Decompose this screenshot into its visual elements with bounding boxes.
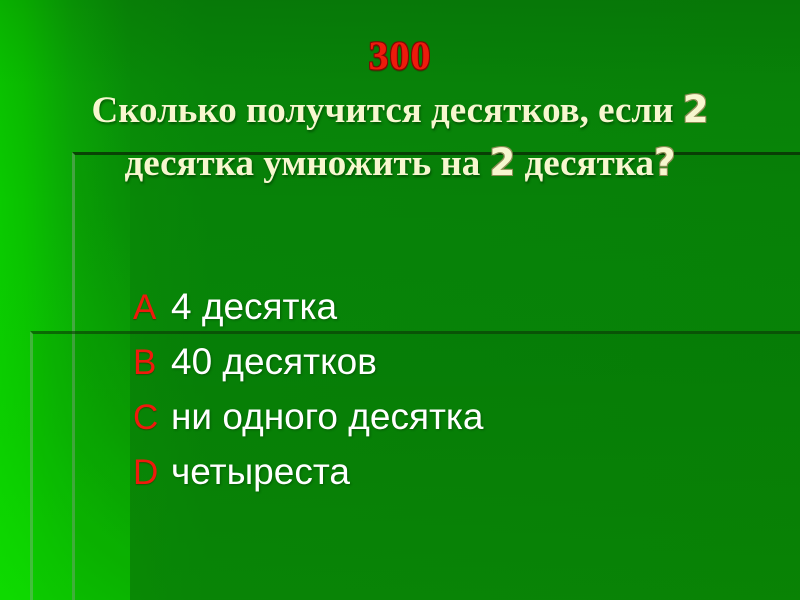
score-header: 300 xyxy=(0,34,800,78)
answer-options-list: A 4 десятка B 40 десятков C ни одного де… xyxy=(133,286,773,506)
question-text: Сколько получится десятков, если 2 десят… xyxy=(40,84,760,190)
question-number-first: 2 xyxy=(683,88,709,131)
answer-option-c[interactable]: C ни одного десятка xyxy=(133,396,773,451)
answer-option-d[interactable]: D четыреста xyxy=(133,451,773,506)
answer-text-d: четыреста xyxy=(171,451,350,493)
answer-letter-a: A xyxy=(133,288,171,328)
question-number-second: 2 xyxy=(490,141,516,184)
answer-letter-d: D xyxy=(133,453,171,493)
answer-text-c: ни одного десятка xyxy=(171,396,484,438)
question-line-1-post: , xyxy=(580,90,589,131)
question-mark: ? xyxy=(654,141,675,184)
answer-option-b[interactable]: B 40 десятков xyxy=(133,341,773,396)
question-line-2-mid: десятка умножить на xyxy=(125,143,490,184)
question-line-1-pre: Сколько получится десятков xyxy=(91,90,579,131)
answer-text-b: 40 десятков xyxy=(171,341,377,383)
question-line-3-text: десятка xyxy=(525,143,654,184)
slide-content: 300 Сколько получится десятков, если 2 д… xyxy=(0,0,800,600)
question-line-2-pre: если xyxy=(598,90,683,131)
quiz-slide: 300 Сколько получится десятков, если 2 д… xyxy=(0,0,800,600)
answer-option-a[interactable]: A 4 десятка xyxy=(133,286,773,341)
answer-text-a: 4 десятка xyxy=(171,286,337,328)
answer-letter-b: B xyxy=(133,343,171,383)
answer-letter-c: C xyxy=(133,398,171,438)
